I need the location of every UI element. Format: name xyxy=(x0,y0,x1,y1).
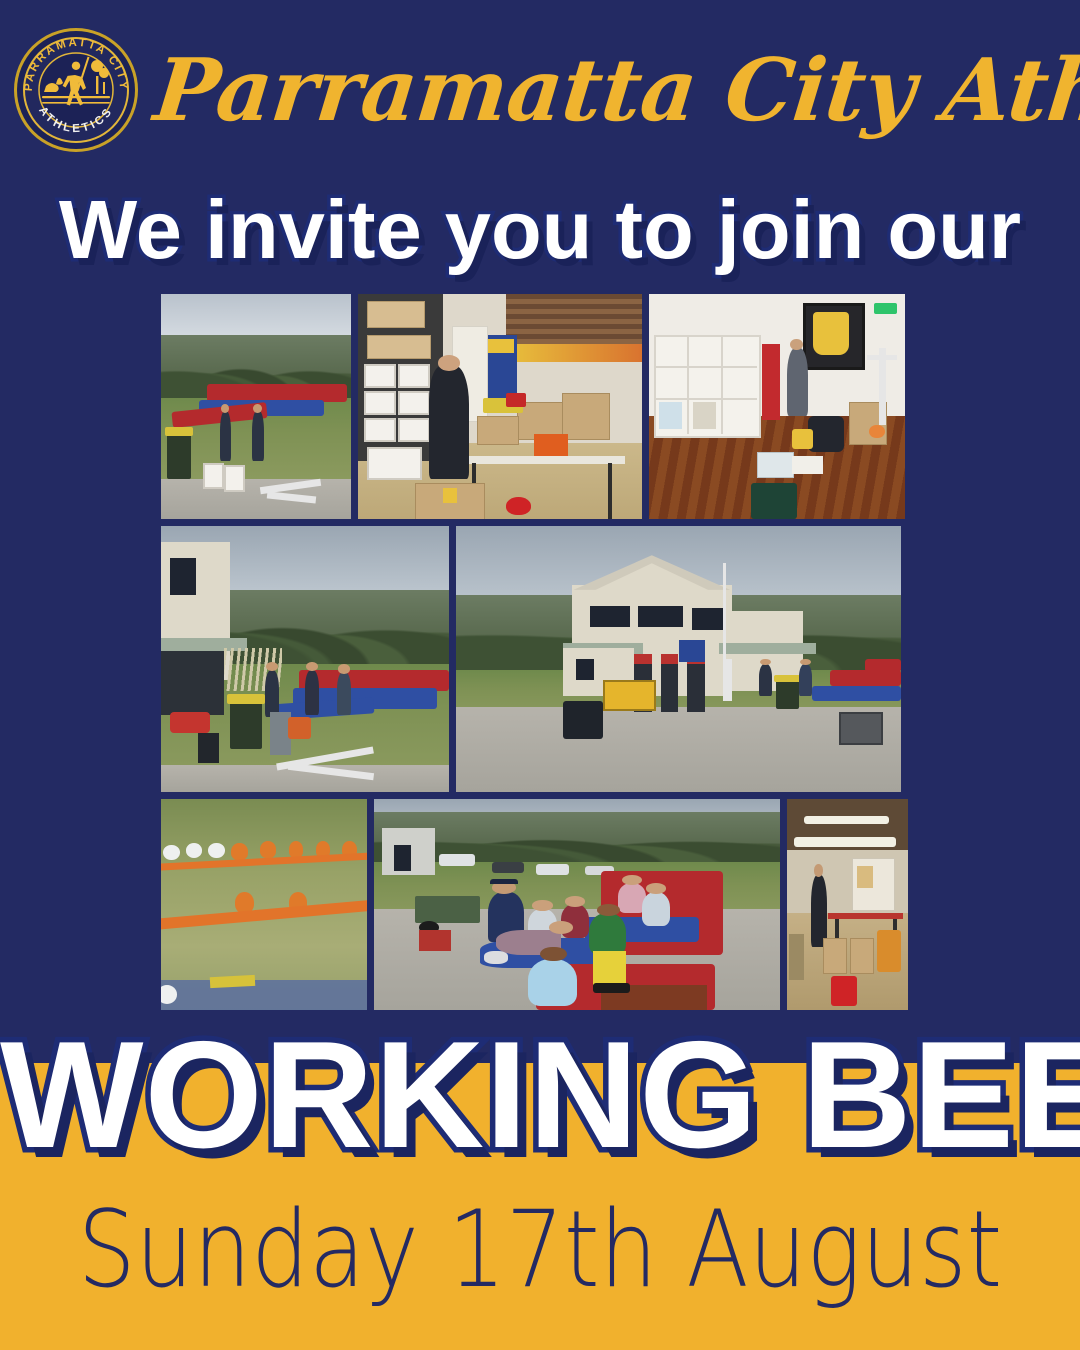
collage-photo-clubhouse-building xyxy=(456,526,901,792)
brand-title: Parramatta City Athletics xyxy=(149,36,1061,146)
poster-header: PARRAMATTA CITY ATHLETICS Parramatta Cit… xyxy=(0,0,1080,175)
collage-row-top xyxy=(161,294,901,519)
club-crest-icon: PARRAMATTA CITY ATHLETICS xyxy=(12,26,140,154)
collage-photo-storeroom xyxy=(358,294,642,519)
collage-row-middle xyxy=(161,526,901,792)
photo-collage xyxy=(155,288,907,1016)
collage-photo-indoor-clearout xyxy=(787,799,908,1010)
collage-row-bottom xyxy=(161,799,901,1010)
big-title-text: WORKING BEE xyxy=(0,1010,1080,1180)
collage-photo-field-markers xyxy=(161,799,367,1010)
headline-text: We invite you to join our xyxy=(0,182,1080,278)
collage-photo-field-unloading xyxy=(161,294,351,519)
collage-photo-kids-on-mats xyxy=(374,799,780,1010)
poster-canvas: PARRAMATTA CITY ATHLETICS Parramatta Cit… xyxy=(0,0,1080,1350)
collage-photo-gear-beside-clubhouse xyxy=(161,526,449,792)
collage-photo-clubroom-shelving xyxy=(649,294,905,519)
date-text: Sunday 17th August xyxy=(76,1186,1005,1314)
